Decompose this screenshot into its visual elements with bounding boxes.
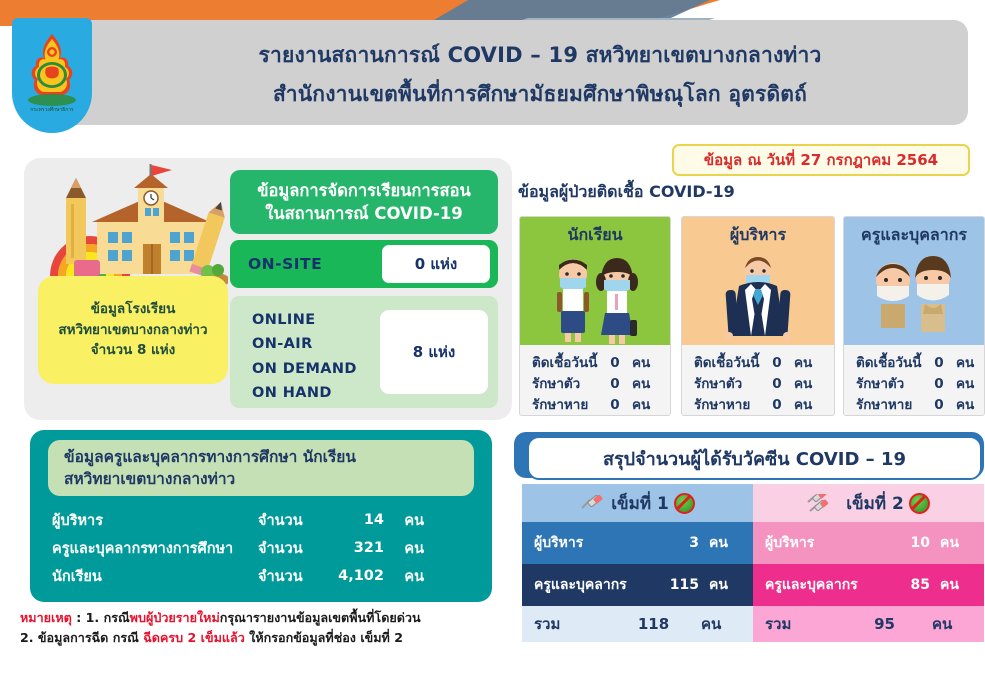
onsite-label: ON-SITE xyxy=(248,255,322,273)
footnote-black-1: กรุณารายงานข้อมูลเขตพื้นที่โดยด่วน xyxy=(220,610,421,625)
table-row: ครูและบุคลากร 85 คน xyxy=(753,564,984,606)
footnote-line2-b: ให้กรอกข้อมูลที่ช่อง เข็มที่ 2 xyxy=(245,630,403,645)
staff-row-count: 321 xyxy=(324,540,384,556)
patient-card-header: นักเรียน xyxy=(520,217,670,345)
dose1-header: เข็มที่ 1 xyxy=(522,484,753,522)
footnote-line-2: 2. ข้อมูลการฉีด กรณี ฉีดครบ 2 เข็มแล้ว ใ… xyxy=(20,628,530,648)
stat-label: รักษาตัว xyxy=(856,374,928,395)
staff-row-word: จำนวน xyxy=(258,537,324,560)
stat-value: 0 xyxy=(928,395,950,416)
staff-row-unit: คน xyxy=(384,565,430,588)
school-learning-panel: ข้อมูลโรงเรียน สหวิทยาเขตบางกลางท่าว จำน… xyxy=(24,158,512,420)
footnote-red-1: พบผู้ป่วยรายใหม่ xyxy=(130,610,220,625)
vaccine-section-title: สรุปจำนวนผู้ได้รับวัคซีน COVID – 19 xyxy=(527,436,982,480)
staff-row-unit: คน xyxy=(384,509,430,532)
infographic-root: กระทรวงศึกษาธิการ รายงานสถานการณ์ COVID … xyxy=(0,0,985,674)
list-item: รักษาตัว 0 คน xyxy=(532,374,670,395)
learning-title-line-1: ข้อมูลการจัดการเรียนการสอน xyxy=(257,179,471,202)
patient-card-header: ครูและบุคลากร xyxy=(844,217,984,345)
virus-stop-icon xyxy=(674,493,695,514)
patient-card-title: ครูและบุคลากร xyxy=(861,223,967,248)
table-row: ผู้บริหาร จำนวน 14 คน xyxy=(52,506,472,534)
school-count-box: ข้อมูลโรงเรียน สหวิทยาเขตบางกลางท่าว จำน… xyxy=(38,276,228,384)
report-title-line-1: รายงานสถานการณ์ COVID – 19 สหวิทยาเขตบาง… xyxy=(259,39,822,72)
stat-value: 0 xyxy=(928,353,950,374)
dose2-total-unit: คน xyxy=(932,612,984,636)
staff-row-word: จำนวน xyxy=(258,565,324,588)
patient-card-title: ผู้บริหาร xyxy=(730,223,786,248)
list-item: รักษาหาย 0 คน xyxy=(694,395,834,416)
dose1-row-count: 115 xyxy=(653,577,699,593)
patient-card-stats: ติดเชื้อวันนี้ 0 คน รักษาตัว 0 คน รักษาห… xyxy=(682,345,834,416)
table-row: ผู้บริหาร 3 คน xyxy=(522,522,753,564)
dose1-header-label: เข็มที่ 1 xyxy=(611,490,669,517)
staff-student-panel: ข้อมูลครูและบุคลากรทางการศึกษา นักเรียน … xyxy=(30,430,492,602)
dose1-row-name: ครูและบุคลากร xyxy=(522,574,653,596)
table-row: นักเรียน จำนวน 4,102 คน xyxy=(52,562,472,590)
staff-row-count: 14 xyxy=(324,512,384,528)
stat-value: 0 xyxy=(766,395,788,416)
footnote-colon: : 1. กรณี xyxy=(72,610,130,625)
stat-label: รักษาหาย xyxy=(532,395,604,416)
stat-unit: คน xyxy=(788,395,822,416)
dose1-total-label: รวม xyxy=(522,612,606,636)
vaccine-dose2-column: เข็มที่ 2 ผู้บริหาร 10 คน ครูและบุคลากร … xyxy=(753,484,984,650)
dose2-header-label: เข็มที่ 2 xyxy=(846,490,904,517)
school-box-line-3: จำนวน 8 แห่ง xyxy=(91,340,176,361)
stat-value: 0 xyxy=(604,374,626,395)
online-value: 8 แห่ง xyxy=(380,310,488,394)
patient-card-stats: ติดเชื้อวันนี้ 0 คน รักษาตัว 0 คน รักษาห… xyxy=(844,345,984,416)
dose2-row-name: ครูและบุคลากร xyxy=(753,574,884,596)
online-modes-block: ONLINE ON-AIR ON DEMAND ON HAND 8 แห่ง xyxy=(230,296,498,408)
footnote-line-1: หมายเหตุ : 1. กรณีพบผู้ป่วยรายใหม่กรุณาร… xyxy=(20,608,530,628)
footnote-block: หมายเหตุ : 1. กรณีพบผู้ป่วยรายใหม่กรุณาร… xyxy=(20,608,530,648)
dose2-row-count: 85 xyxy=(884,577,930,593)
dose1-total-row: รวม 118 คน xyxy=(522,606,753,642)
staff-row-name: ผู้บริหาร xyxy=(52,509,258,532)
staff-row-count: 4,102 xyxy=(324,568,384,584)
list-item: ติดเชื้อวันนี้ 0 คน xyxy=(694,353,834,374)
list-item: รักษาตัว 0 คน xyxy=(856,374,984,395)
dose1-row-count: 3 xyxy=(653,535,699,551)
dose1-row-unit: คน xyxy=(699,532,753,554)
svg-text:กระทรวงศึกษาธิการ: กระทรวงศึกษาธิการ xyxy=(30,106,74,113)
dose1-row-unit: คน xyxy=(699,574,753,596)
stat-unit: คน xyxy=(626,374,660,395)
stat-unit: คน xyxy=(950,374,984,395)
stat-label: ติดเชื้อวันนี้ xyxy=(856,353,928,374)
patient-card-header: ผู้บริหาร xyxy=(682,217,834,345)
teachers-with-masks-icon xyxy=(855,248,973,344)
online-mode-4: ON HAND xyxy=(252,381,357,405)
staff-row-name: นักเรียน xyxy=(52,565,258,588)
stat-label: ติดเชื้อวันนี้ xyxy=(694,353,766,374)
stat-unit: คน xyxy=(626,395,660,416)
dose2-total-row: รวม 95 คน xyxy=(753,606,984,642)
dose2-row-name: ผู้บริหาร xyxy=(753,532,884,554)
school-box-line-2: สหวิทยาเขตบางกลางท่าว xyxy=(58,320,207,341)
online-mode-3: ON DEMAND xyxy=(252,357,357,381)
table-row: ครูและบุคลากร 115 คน xyxy=(522,564,753,606)
virus-stop-icon xyxy=(909,493,930,514)
footnote-line2-red: ฉีดครบ 2 เข็มแล้ว xyxy=(143,630,245,645)
table-row: ผู้บริหาร 10 คน xyxy=(753,522,984,564)
patient-card-stats: ติดเชื้อวันนี้ 0 คน รักษาตัว 0 คน รักษาห… xyxy=(520,345,670,416)
list-item: รักษาตัว 0 คน xyxy=(694,374,834,395)
footnote-line2-a: 2. ข้อมูลการฉีด กรณี xyxy=(20,630,143,645)
list-item: ติดเชื้อวันนี้ 0 คน xyxy=(532,353,670,374)
stat-unit: คน xyxy=(950,395,984,416)
staff-row-unit: คน xyxy=(384,537,430,560)
dose2-row-unit: คน xyxy=(930,532,984,554)
patients-section-heading: ข้อมูลผู้ป่วยติดเชื้อ COVID-19 xyxy=(518,180,735,205)
online-mode-list: ONLINE ON-AIR ON DEMAND ON HAND xyxy=(252,308,357,405)
stat-label: รักษาตัว xyxy=(532,374,604,395)
dose2-total-count: 95 xyxy=(837,615,932,633)
stat-label: รักษาหาย xyxy=(856,395,928,416)
dose2-row-count: 10 xyxy=(884,535,930,551)
stat-unit: คน xyxy=(788,353,822,374)
students-with-masks-icon xyxy=(535,248,655,344)
patient-card-title: นักเรียน xyxy=(568,223,623,248)
stat-value: 0 xyxy=(928,374,950,395)
list-item: รักษาหาย 0 คน xyxy=(532,395,670,416)
learning-management-title: ข้อมูลการจัดการเรียนการสอน ในสถานการณ์ C… xyxy=(230,170,498,234)
stat-unit: คน xyxy=(626,353,660,374)
stat-value: 0 xyxy=(766,353,788,374)
stat-value: 0 xyxy=(766,374,788,395)
online-mode-1: ONLINE xyxy=(252,308,357,332)
stat-value: 0 xyxy=(604,395,626,416)
vaccine-table: เข็มที่ 1 ผู้บริหาร 3 คน ครูและบุคลากร 1… xyxy=(522,484,984,650)
dose2-total-label: รวม xyxy=(753,612,837,636)
patient-card-executives: ผู้บริหาร xyxy=(681,216,835,416)
stat-value: 0 xyxy=(604,353,626,374)
staff-title-line-2: สหวิทยาเขตบางกลางท่าว xyxy=(64,468,474,490)
stat-unit: คน xyxy=(788,374,822,395)
dose2-header: เข็มที่ 2 xyxy=(753,484,984,522)
stat-label: รักษาหาย xyxy=(694,395,766,416)
staff-title-line-1: ข้อมูลครูและบุคลากรทางการศึกษา นักเรียน xyxy=(64,446,474,468)
stat-label: รักษาตัว xyxy=(694,374,766,395)
report-title-line-2: สำนักงานเขตพื้นที่การศึกษามัธยมศึกษาพิษณ… xyxy=(273,78,807,111)
school-building-illustration-icon xyxy=(42,164,228,292)
staff-row-name: ครูและบุคลากรทางการศึกษา xyxy=(52,537,258,560)
online-mode-2: ON-AIR xyxy=(252,332,357,356)
stat-unit: คน xyxy=(950,353,984,374)
onsite-value: 0 แห่ง xyxy=(382,245,490,283)
staff-row-word: จำนวน xyxy=(258,509,324,532)
header-title-block: รายงานสถานการณ์ COVID – 19 สหวิทยาเขตบาง… xyxy=(120,30,960,120)
patient-card-teachers: ครูและบุคลากร xyxy=(843,216,985,416)
executive-with-mask-icon xyxy=(703,248,813,344)
dose1-total-unit: คน xyxy=(701,612,753,636)
dose1-row-name: ผู้บริหาร xyxy=(522,532,653,554)
dose1-total-count: 118 xyxy=(606,615,701,633)
syringe-icon xyxy=(580,495,606,511)
vaccine-dose1-column: เข็มที่ 1 ผู้บริหาร 3 คน ครูและบุคลากร 1… xyxy=(522,484,753,650)
staff-rows: ผู้บริหาร จำนวน 14 คน ครูและบุคลากรทางกา… xyxy=(52,506,472,590)
stat-label: ติดเชื้อวันนี้ xyxy=(532,353,604,374)
thai-ministry-of-education-emblem-icon: กระทรวงศึกษาธิการ xyxy=(12,18,92,133)
onsite-row: ON-SITE 0 แห่ง xyxy=(230,240,498,288)
list-item: ติดเชื้อวันนี้ 0 คน xyxy=(856,353,984,374)
list-item: รักษาหาย 0 คน xyxy=(856,395,984,416)
school-box-line-1: ข้อมูลโรงเรียน xyxy=(91,299,176,320)
double-syringe-icon xyxy=(807,494,841,512)
dose2-row-unit: คน xyxy=(930,574,984,596)
staff-panel-title: ข้อมูลครูและบุคลากรทางการศึกษา นักเรียน … xyxy=(48,440,474,496)
table-row: ครูและบุคลากรทางการศึกษา จำนวน 321 คน xyxy=(52,534,472,562)
patient-card-students: นักเรียน xyxy=(519,216,671,416)
report-date-badge: ข้อมูล ณ วันที่ 27 กรกฎาคม 2564 xyxy=(672,144,970,176)
footnote-heading: หมายเหตุ xyxy=(20,610,72,625)
learning-title-line-2: ในสถานการณ์ COVID-19 xyxy=(265,202,463,225)
